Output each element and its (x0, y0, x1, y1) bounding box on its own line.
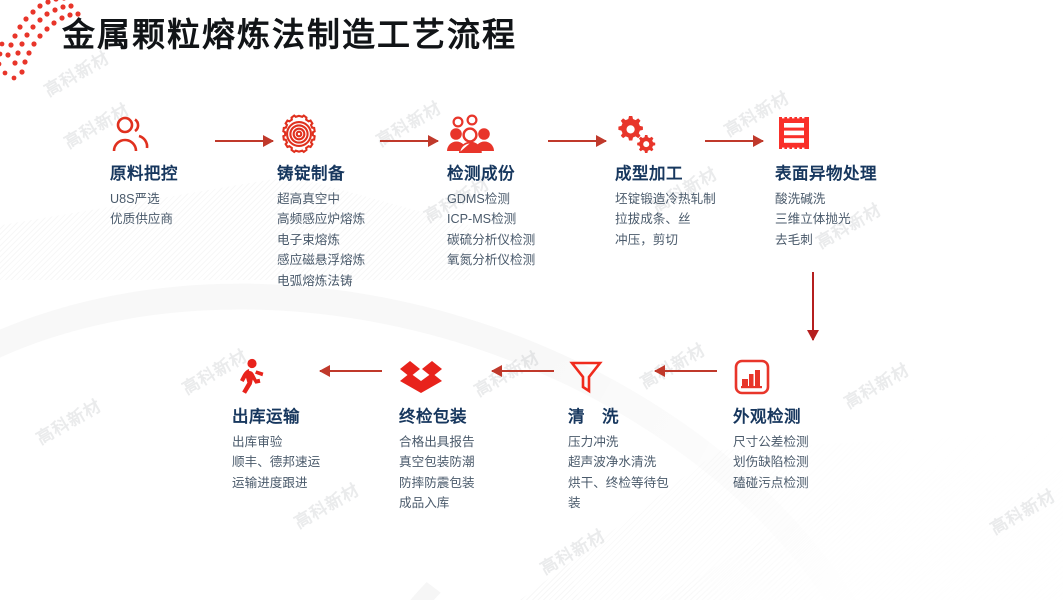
detail-line: 电弧熔炼法铸 (277, 271, 365, 291)
flow-step-detail-list: 出库审验 顺丰、德邦速运 运输进度跟进 (232, 432, 320, 493)
detail-line: 真空包装防潮 (399, 452, 475, 472)
flow-step-title: 原料把控 (110, 160, 178, 184)
detail-line: 烘干、终检等待包装 (568, 473, 680, 514)
flow-step-title: 清 洗 (568, 403, 680, 427)
arrow-step8-to-step9 (320, 365, 382, 377)
flow-step-1[interactable]: 原料把控 U8S严选 优质供应商 (110, 112, 178, 230)
flow-step-title: 出库运输 (232, 403, 320, 427)
arrow-step7-to-step8 (492, 365, 554, 377)
flow-step-title: 终检包装 (399, 403, 475, 427)
flow-step-detail-list: U8S严选 优质供应商 (110, 189, 178, 230)
flow-step-detail-list: 超高真空中 高频感应炉熔炼 电子束熔炼 感应磁悬浮熔炼 电弧熔炼法铸 (277, 189, 365, 291)
flow-step-detail-list: 酸洗碱洗 三维立体抛光 去毛刺 (775, 189, 877, 250)
detail-line: 三维立体抛光 (775, 209, 877, 229)
arrow-step2-to-step3 (380, 135, 438, 147)
flow-step-3[interactable]: 检测成份 GDMS检测 ICP-MS检测 碳硫分析仪检测 氧氮分析仪检测 (447, 112, 535, 271)
detail-line: 去毛刺 (775, 230, 877, 250)
detail-line: 超高真空中 (277, 189, 365, 209)
flow-step-title: 检测成份 (447, 160, 535, 184)
funnel-icon (568, 355, 628, 399)
flow-step-detail-list: 尺寸公差检测 划伤缺陷检测 磕碰污点检测 (733, 432, 809, 493)
flow-step-5[interactable]: 表面异物处理 酸洗碱洗 三维立体抛光 去毛刺 (775, 112, 877, 250)
factory-badge-icon (733, 355, 793, 399)
detail-line: 碳硫分析仪检测 (447, 230, 535, 250)
detail-line: 冲压，剪切 (615, 230, 716, 250)
detail-line: 运输进度跟进 (232, 473, 320, 493)
detail-line: 拉拔成条、丝 (615, 209, 716, 229)
document-lines-icon (775, 112, 835, 156)
flow-step-title: 铸锭制备 (277, 160, 365, 184)
watermark: 高科新材 (839, 356, 914, 414)
gear-concentric-outline-icon (277, 112, 337, 156)
flow-step-8[interactable]: 终检包装 合格出具报告 真空包装防潮 防摔防震包装 成品入库 (399, 355, 475, 514)
flow-step-2[interactable]: 铸锭制备 超高真空中 高频感应炉熔炼 电子束熔炼 感应磁悬浮熔炼 电弧熔炼法铸 (277, 112, 365, 291)
open-box-icon (399, 355, 459, 399)
detail-line: 氧氮分析仪检测 (447, 250, 535, 270)
detail-line: 优质供应商 (110, 209, 178, 229)
detail-line: 成品入库 (399, 493, 475, 513)
flow-step-6[interactable]: 外观检测 尺寸公差检测 划伤缺陷检测 磕碰污点检测 (733, 355, 809, 493)
walking-person-icon (232, 355, 292, 399)
detail-line: 高频感应炉熔炼 (277, 209, 365, 229)
flow-step-4[interactable]: 成型加工 坯锭锻造冷热轧制 拉拔成条、丝 冲压，剪切 (615, 112, 716, 250)
people-group-icon (447, 112, 507, 156)
background-stripe-band-corner (620, 470, 1063, 600)
detail-line: 酸洗碱洗 (775, 189, 877, 209)
background-stripe-band-top (0, 150, 470, 280)
flow-step-detail-list: 压力冲洗 超声波净水清洗 烘干、终检等待包装 (568, 432, 680, 514)
watermark: 高科新材 (985, 482, 1060, 540)
flow-step-title: 表面异物处理 (775, 160, 877, 184)
arrow-step3-to-step4 (548, 135, 606, 147)
watermark: 高科新材 (31, 392, 106, 450)
watermark: 高科新材 (535, 522, 610, 580)
page-title: 金属颗粒熔炼法制造工艺流程 (62, 8, 517, 56)
flow-step-detail-list: GDMS检测 ICP-MS检测 碳硫分析仪检测 氧氮分析仪检测 (447, 189, 535, 271)
arrow-step5-to-step6 (807, 272, 819, 340)
detail-line: 出库审验 (232, 432, 320, 452)
flow-step-title: 成型加工 (615, 160, 716, 184)
flow-step-7[interactable]: 清 洗 压力冲洗 超声波净水清洗 烘干、终检等待包装 (568, 355, 680, 514)
watermark: 高科新材 (371, 94, 446, 152)
detail-line: U8S严选 (110, 189, 178, 209)
detail-line: 划伤缺陷检测 (733, 452, 809, 472)
watermark: 高科新材 (469, 344, 544, 402)
detail-line: 磕碰污点检测 (733, 473, 809, 493)
detail-line: 压力冲洗 (568, 432, 680, 452)
detail-line: 超声波净水清洗 (568, 452, 680, 472)
flow-step-detail-list: 坯锭锻造冷热轧制 拉拔成条、丝 冲压，剪切 (615, 189, 716, 250)
flow-step-title: 外观检测 (733, 403, 809, 427)
detail-line: 防摔防震包装 (399, 473, 475, 493)
detail-line: 电子束熔炼 (277, 230, 365, 250)
detail-line: 顺丰、德邦速运 (232, 452, 320, 472)
flow-step-9[interactable]: 出库运输 出库审验 顺丰、德邦速运 运输进度跟进 (232, 355, 320, 493)
detail-line: GDMS检测 (447, 189, 535, 209)
detail-line: 感应磁悬浮熔炼 (277, 250, 365, 270)
detail-line: 坯锭锻造冷热轧制 (615, 189, 716, 209)
slide-canvas: 高科新材 高科新材 高科新材 高科新材 高科新材 高科新材 高科新材 高科新材 … (0, 0, 1063, 600)
two-gears-icon (615, 112, 675, 156)
detail-line: 合格出具报告 (399, 432, 475, 452)
detail-line: ICP-MS检测 (447, 209, 535, 229)
flow-step-detail-list: 合格出具报告 真空包装防潮 防摔防震包装 成品入库 (399, 432, 475, 514)
arrow-step1-to-step2 (215, 135, 273, 147)
detail-line: 尺寸公差检测 (733, 432, 809, 452)
two-people-outline-icon (110, 112, 170, 156)
